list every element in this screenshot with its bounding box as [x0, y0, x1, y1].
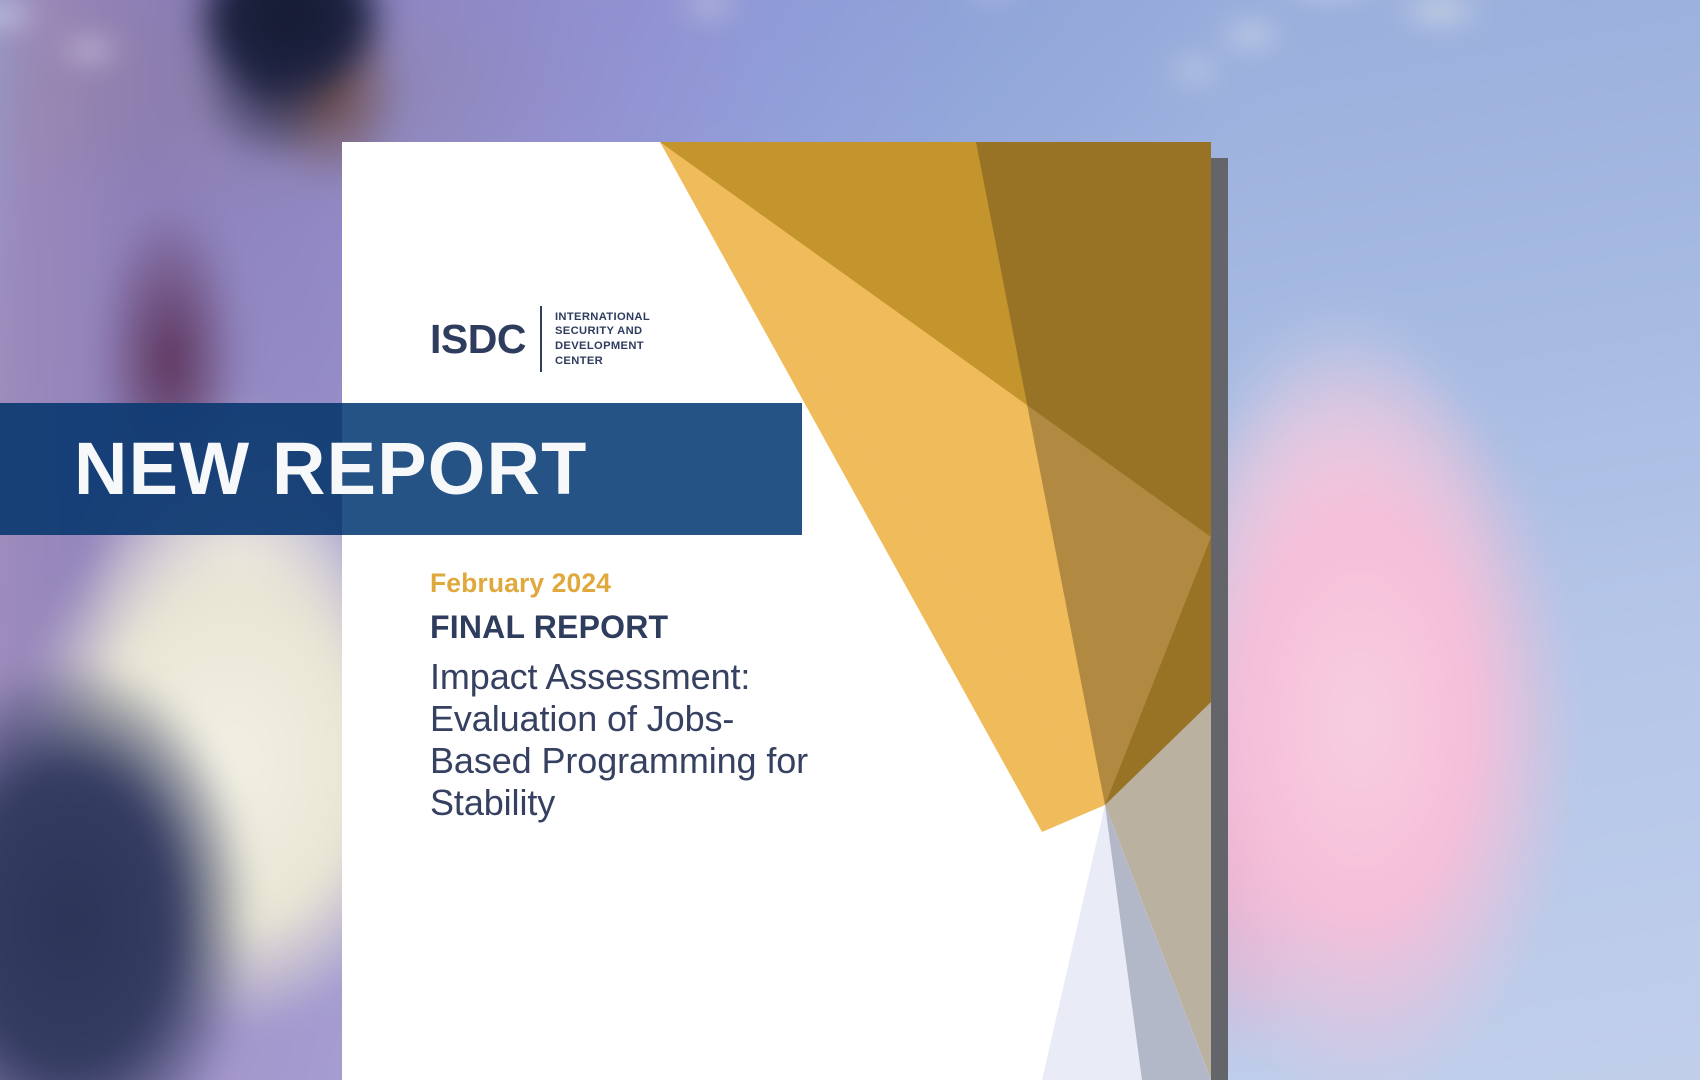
- logo-line-3: DEVELOPMENT: [555, 339, 650, 354]
- page-title: Impact Assessment: Evaluation of Jobs- B…: [430, 656, 970, 824]
- logo-org-name: INTERNATIONAL SECURITY AND DEVELOPMENT C…: [555, 310, 650, 368]
- report-card: ISDC INTERNATIONAL SECURITY AND DEVELOPM…: [342, 142, 1211, 1080]
- shape-brown-overlay: [976, 142, 1211, 1080]
- banner-label: NEW REPORT: [74, 432, 588, 506]
- isdc-logo: ISDC INTERNATIONAL SECURITY AND DEVELOPM…: [430, 306, 650, 372]
- cover-graphic: ISDC INTERNATIONAL SECURITY AND DEVELOPM…: [0, 0, 1700, 1080]
- logo-line-4: CENTER: [555, 354, 650, 369]
- new-report-banner: NEW REPORT: [0, 403, 802, 535]
- shape-gray-blue-triangle: [1105, 805, 1211, 1080]
- report-meta-block: February 2024 FINAL REPORT Impact Assess…: [430, 567, 970, 825]
- report-date: February 2024: [430, 567, 970, 600]
- logo-line-1: INTERNATIONAL: [555, 310, 650, 325]
- shape-pale-lavender-triangle: [1042, 805, 1211, 1080]
- logo-wordmark: ISDC: [430, 319, 540, 360]
- logo-divider-rule: [540, 306, 542, 372]
- logo-line-2: SECURITY AND: [555, 324, 650, 339]
- report-kind: FINAL REPORT: [430, 608, 970, 647]
